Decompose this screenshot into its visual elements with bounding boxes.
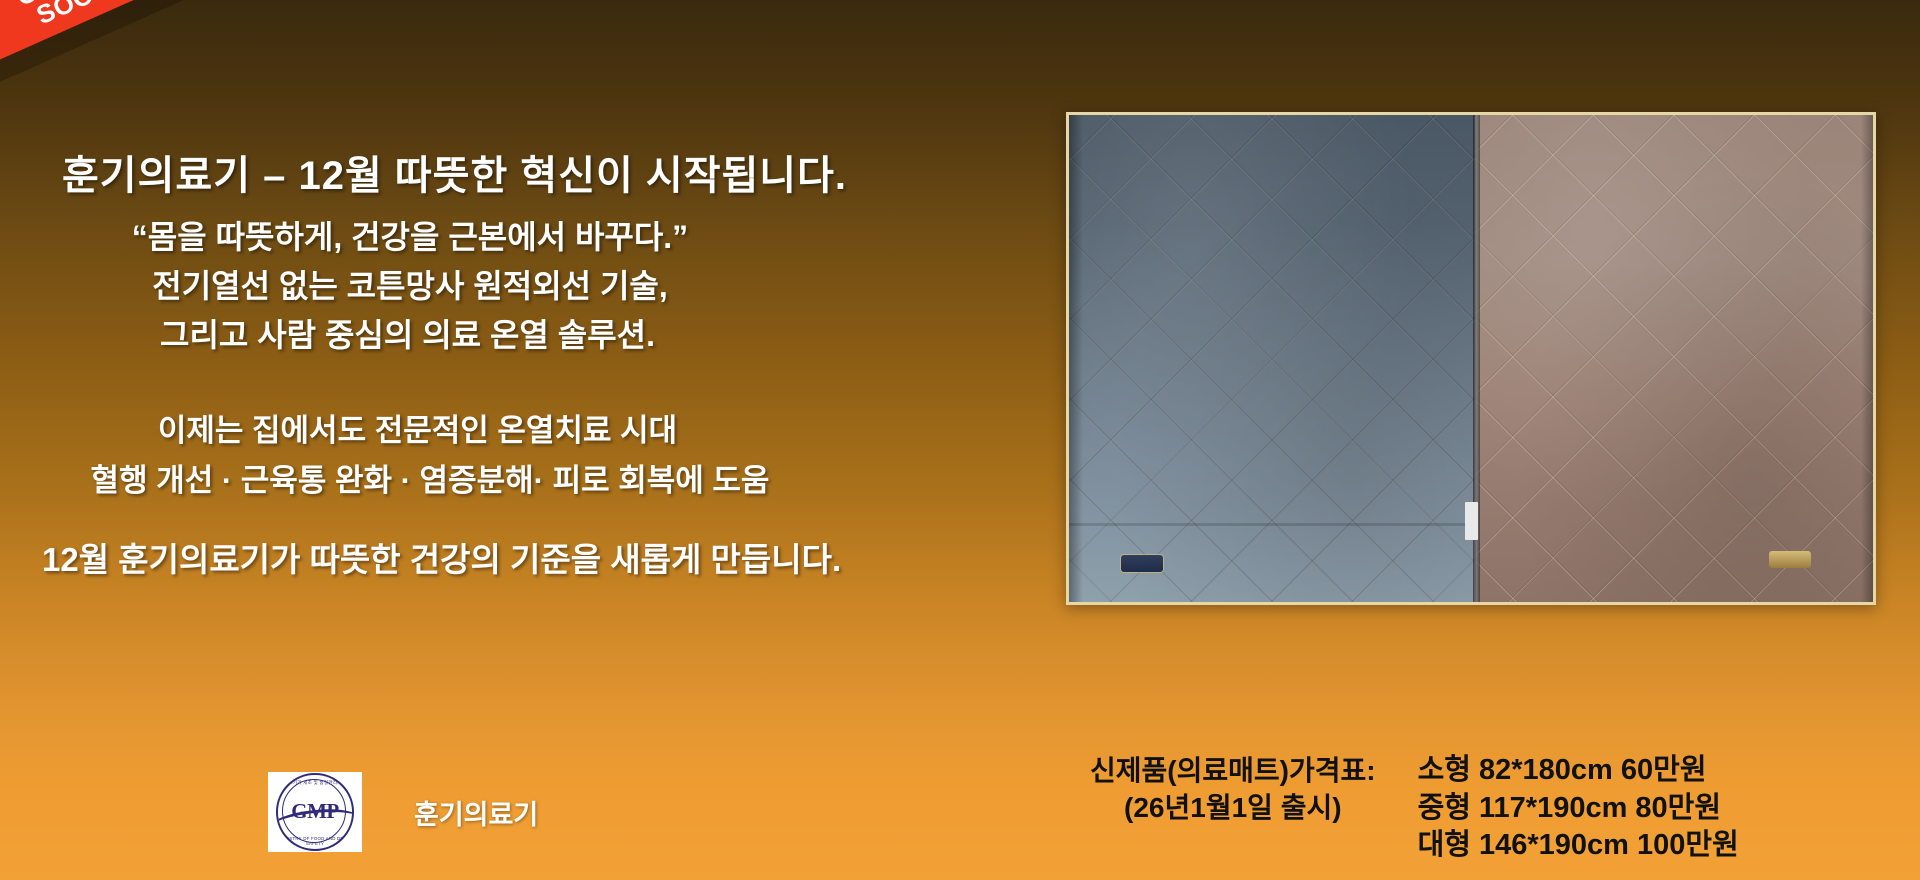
feature-line-2: 그리고 사람 중심의 의료 온열 솔루션. — [0, 310, 880, 356]
promo-banner: COMING SOON! 훈기의료기 – 12월 따뜻한 혁신이 시작됩니다. … — [0, 0, 1920, 880]
gmp-bottom-text: MINISTRY OF FOOD AND DRUG SAFETY — [278, 836, 352, 846]
mat-hem-blue — [1069, 523, 1475, 526]
price-row: 대형 146*190cm 100만원 — [1418, 827, 1739, 865]
price-row: 중형 117*190cm 80만원 — [1418, 790, 1739, 828]
brand-row: 의료기기 제조 및 품질관리기준 GMP MINISTRY OF FOOD AN… — [268, 772, 538, 852]
mat-shading-blue — [1069, 115, 1475, 602]
price-table: 신제품(의료매트)가격표: (26년1월1일 출시) 소형 82*180cm 6… — [1090, 752, 1739, 865]
mat-emblem-blue — [1121, 555, 1163, 572]
mat-edge-left-blue — [1069, 115, 1083, 602]
price-row: 소형 82*180cm 60만원 — [1418, 752, 1739, 790]
gmp-circle: 의료기기 제조 및 품질관리기준 GMP MINISTRY OF FOOD AN… — [276, 773, 354, 851]
text-column: 훈기의료기 – 12월 따뜻한 혁신이 시작됩니다. “몸을 따뜻하게, 건강을… — [0, 0, 880, 880]
mat-blue — [1069, 115, 1475, 602]
price-rows: 소형 82*180cm 60만원 중형 117*190cm 80만원 대형 14… — [1418, 752, 1739, 865]
price-label-line-2: (26년1월1일 출시) — [1090, 789, 1376, 826]
gmp-top-text: 의료기기 제조 및 품질관리기준 — [278, 780, 352, 786]
brand-name: 훈기의료기 — [414, 793, 538, 832]
price-table-label: 신제품(의료매트)가격표: (26년1월1일 출시) — [1090, 752, 1376, 826]
benefit-line-2: 혈행 개선 · 근육통 완화 · 염증분해· 피로 회복에 도움 — [0, 455, 880, 500]
mat-edge-right-brown — [1861, 115, 1873, 602]
quote-line: “몸을 따뜻하게, 건강을 근본에서 바꾸다.” — [0, 212, 880, 258]
mat-care-tag — [1465, 502, 1478, 540]
product-photo — [1066, 112, 1876, 605]
gmp-certification-icon: 의료기기 제조 및 품질관리기준 GMP MINISTRY OF FOOD AN… — [268, 772, 362, 852]
benefit-line-1: 이제는 집에서도 전문적인 온열치료 시대 — [0, 405, 880, 450]
headline: 훈기의료기 – 12월 따뜻한 혁신이 시작됩니다. — [62, 143, 847, 201]
price-label-line-1: 신제품(의료매트)가격표: — [1090, 752, 1376, 789]
closing-line: 12월 훈기의료기가 따뜻한 건강의 기준을 새롭게 만듭니다. — [42, 533, 841, 581]
mat-emblem-brown — [1769, 551, 1811, 568]
mat-shading-brown — [1475, 115, 1873, 602]
mat-brown — [1475, 115, 1873, 602]
feature-line-1: 전기열선 없는 코튼망사 원적외선 기술, — [0, 261, 880, 307]
